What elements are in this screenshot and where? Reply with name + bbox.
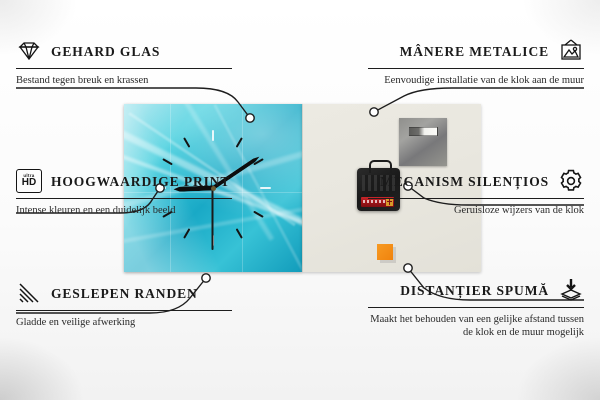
callout-mecanism-silentios: MECANISM SILENȚIOS Geruisloze wijzers va…: [368, 168, 584, 217]
callout-hoogwaardige-print: ultra HD HOOGWAARDIGE PRINT Intense kleu…: [16, 168, 232, 217]
callout-title: GEHARD GLAS: [51, 44, 160, 59]
callout-rule: [16, 310, 232, 311]
callout-header: DISTANȚIER SPUMĂ: [368, 277, 584, 303]
callout-geslepen-randen: GESLEPEN RANDEN Gladde en veilige afwerk…: [16, 280, 232, 329]
callout-subtitle: Geruisloze wijzers van de klok: [368, 204, 584, 217]
callout-rule: [368, 68, 584, 69]
foam-spacer-pad: [377, 244, 393, 260]
callout-rule: [368, 198, 584, 199]
callout-header: ultra HD HOOGWAARDIGE PRINT: [16, 168, 232, 194]
callout-title: MECANISM SILENȚIOS: [380, 174, 549, 189]
callout-header: GESLEPEN RANDEN: [16, 280, 232, 306]
gear-icon: [558, 168, 584, 194]
callout-subtitle: Intense kleuren en een duidelijk beeld: [16, 204, 232, 217]
callout-header: MÂNERE METALICE: [368, 38, 584, 64]
callout-distantier-spuma: DISTANȚIER SPUMĂ Maakt het behouden van …: [368, 277, 584, 339]
ultra-hd-icon: ultra HD: [16, 168, 42, 194]
callout-title: GESLEPEN RANDEN: [51, 286, 198, 301]
keyhole-slot: [408, 127, 438, 136]
callout-subtitle: Eenvoudige installatie van de klok aan d…: [368, 74, 584, 87]
callout-title: HOOGWAARDIGE PRINT: [51, 174, 230, 189]
callout-gehard-glas: GEHARD GLAS Bestand tegen breuk en krass…: [16, 38, 232, 87]
hanger-plate: [399, 118, 447, 166]
spacer-arrow-icon: [558, 277, 584, 303]
callout-rule: [368, 307, 584, 308]
callout-rule: [16, 198, 232, 199]
callout-manere-metalice: MÂNERE METALICE Eenvoudige installatie v…: [368, 38, 584, 87]
infographic-canvas: GEHARD GLAS Bestand tegen breuk en krass…: [0, 0, 600, 400]
callout-title: DISTANȚIER SPUMĂ: [400, 283, 549, 298]
diamond-icon: [16, 38, 42, 64]
beveled-edges-icon: [16, 280, 42, 306]
callout-subtitle: Bestand tegen breuk en krassen: [16, 74, 232, 87]
picture-frame-icon: [558, 38, 584, 64]
callout-header: MECANISM SILENȚIOS: [368, 168, 584, 194]
callout-subtitle: Gladde en veilige afwerking: [16, 316, 232, 329]
callout-header: GEHARD GLAS: [16, 38, 232, 64]
callout-rule: [16, 68, 232, 69]
callout-subtitle: Maakt het behouden van een gelijke afsta…: [368, 313, 584, 339]
callout-title: MÂNERE METALICE: [400, 44, 549, 59]
